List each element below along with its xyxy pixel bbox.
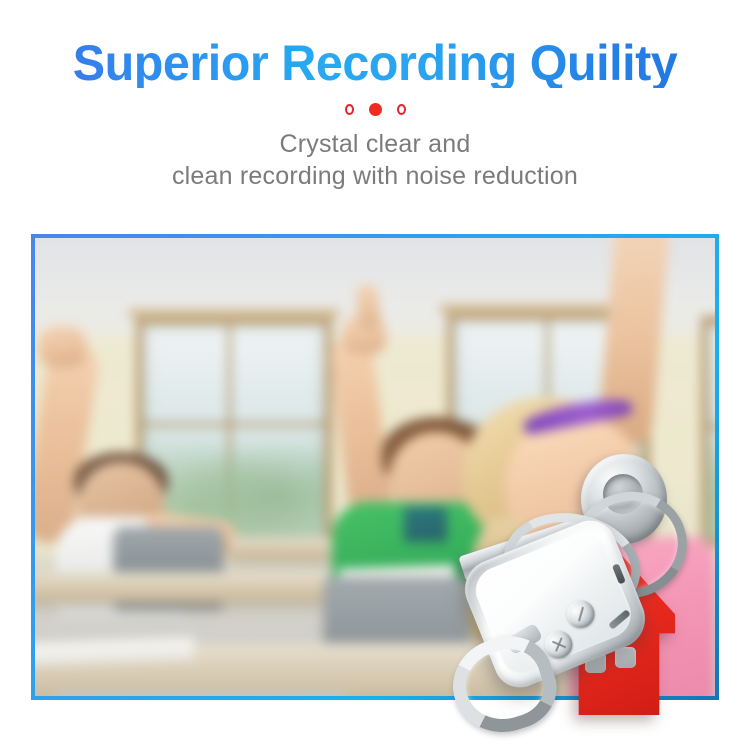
- window-right: [701, 316, 715, 547]
- classroom-scene: [35, 238, 715, 696]
- subtitle-line-2: clean recording with noise reduction: [0, 160, 750, 192]
- photo-blur-layer: [35, 238, 715, 696]
- middle-child-collar: [404, 507, 447, 542]
- classroom-photo: [35, 238, 715, 696]
- header-block: Superior Recording Quility Crystal clear…: [0, 0, 750, 192]
- dot-outline-right-icon: [397, 104, 406, 115]
- foreground-girl-strap: [561, 535, 613, 590]
- decorative-dots: [0, 102, 750, 116]
- dot-filled-center-icon: [369, 103, 382, 116]
- page-title: Superior Recording Quility: [11, 38, 739, 88]
- desk-front-legs: [56, 693, 346, 696]
- desk-middle: [35, 572, 324, 602]
- middle-child-finger: [355, 283, 381, 330]
- dot-outline-left-icon: [345, 104, 354, 115]
- photo-frame: [31, 234, 719, 700]
- subtitle-line-1: Crystal clear and: [0, 128, 750, 160]
- subtitle: Crystal clear and clean recording with n…: [0, 128, 750, 192]
- back-child-hand: [39, 326, 86, 366]
- window-rail-left: [129, 309, 339, 318]
